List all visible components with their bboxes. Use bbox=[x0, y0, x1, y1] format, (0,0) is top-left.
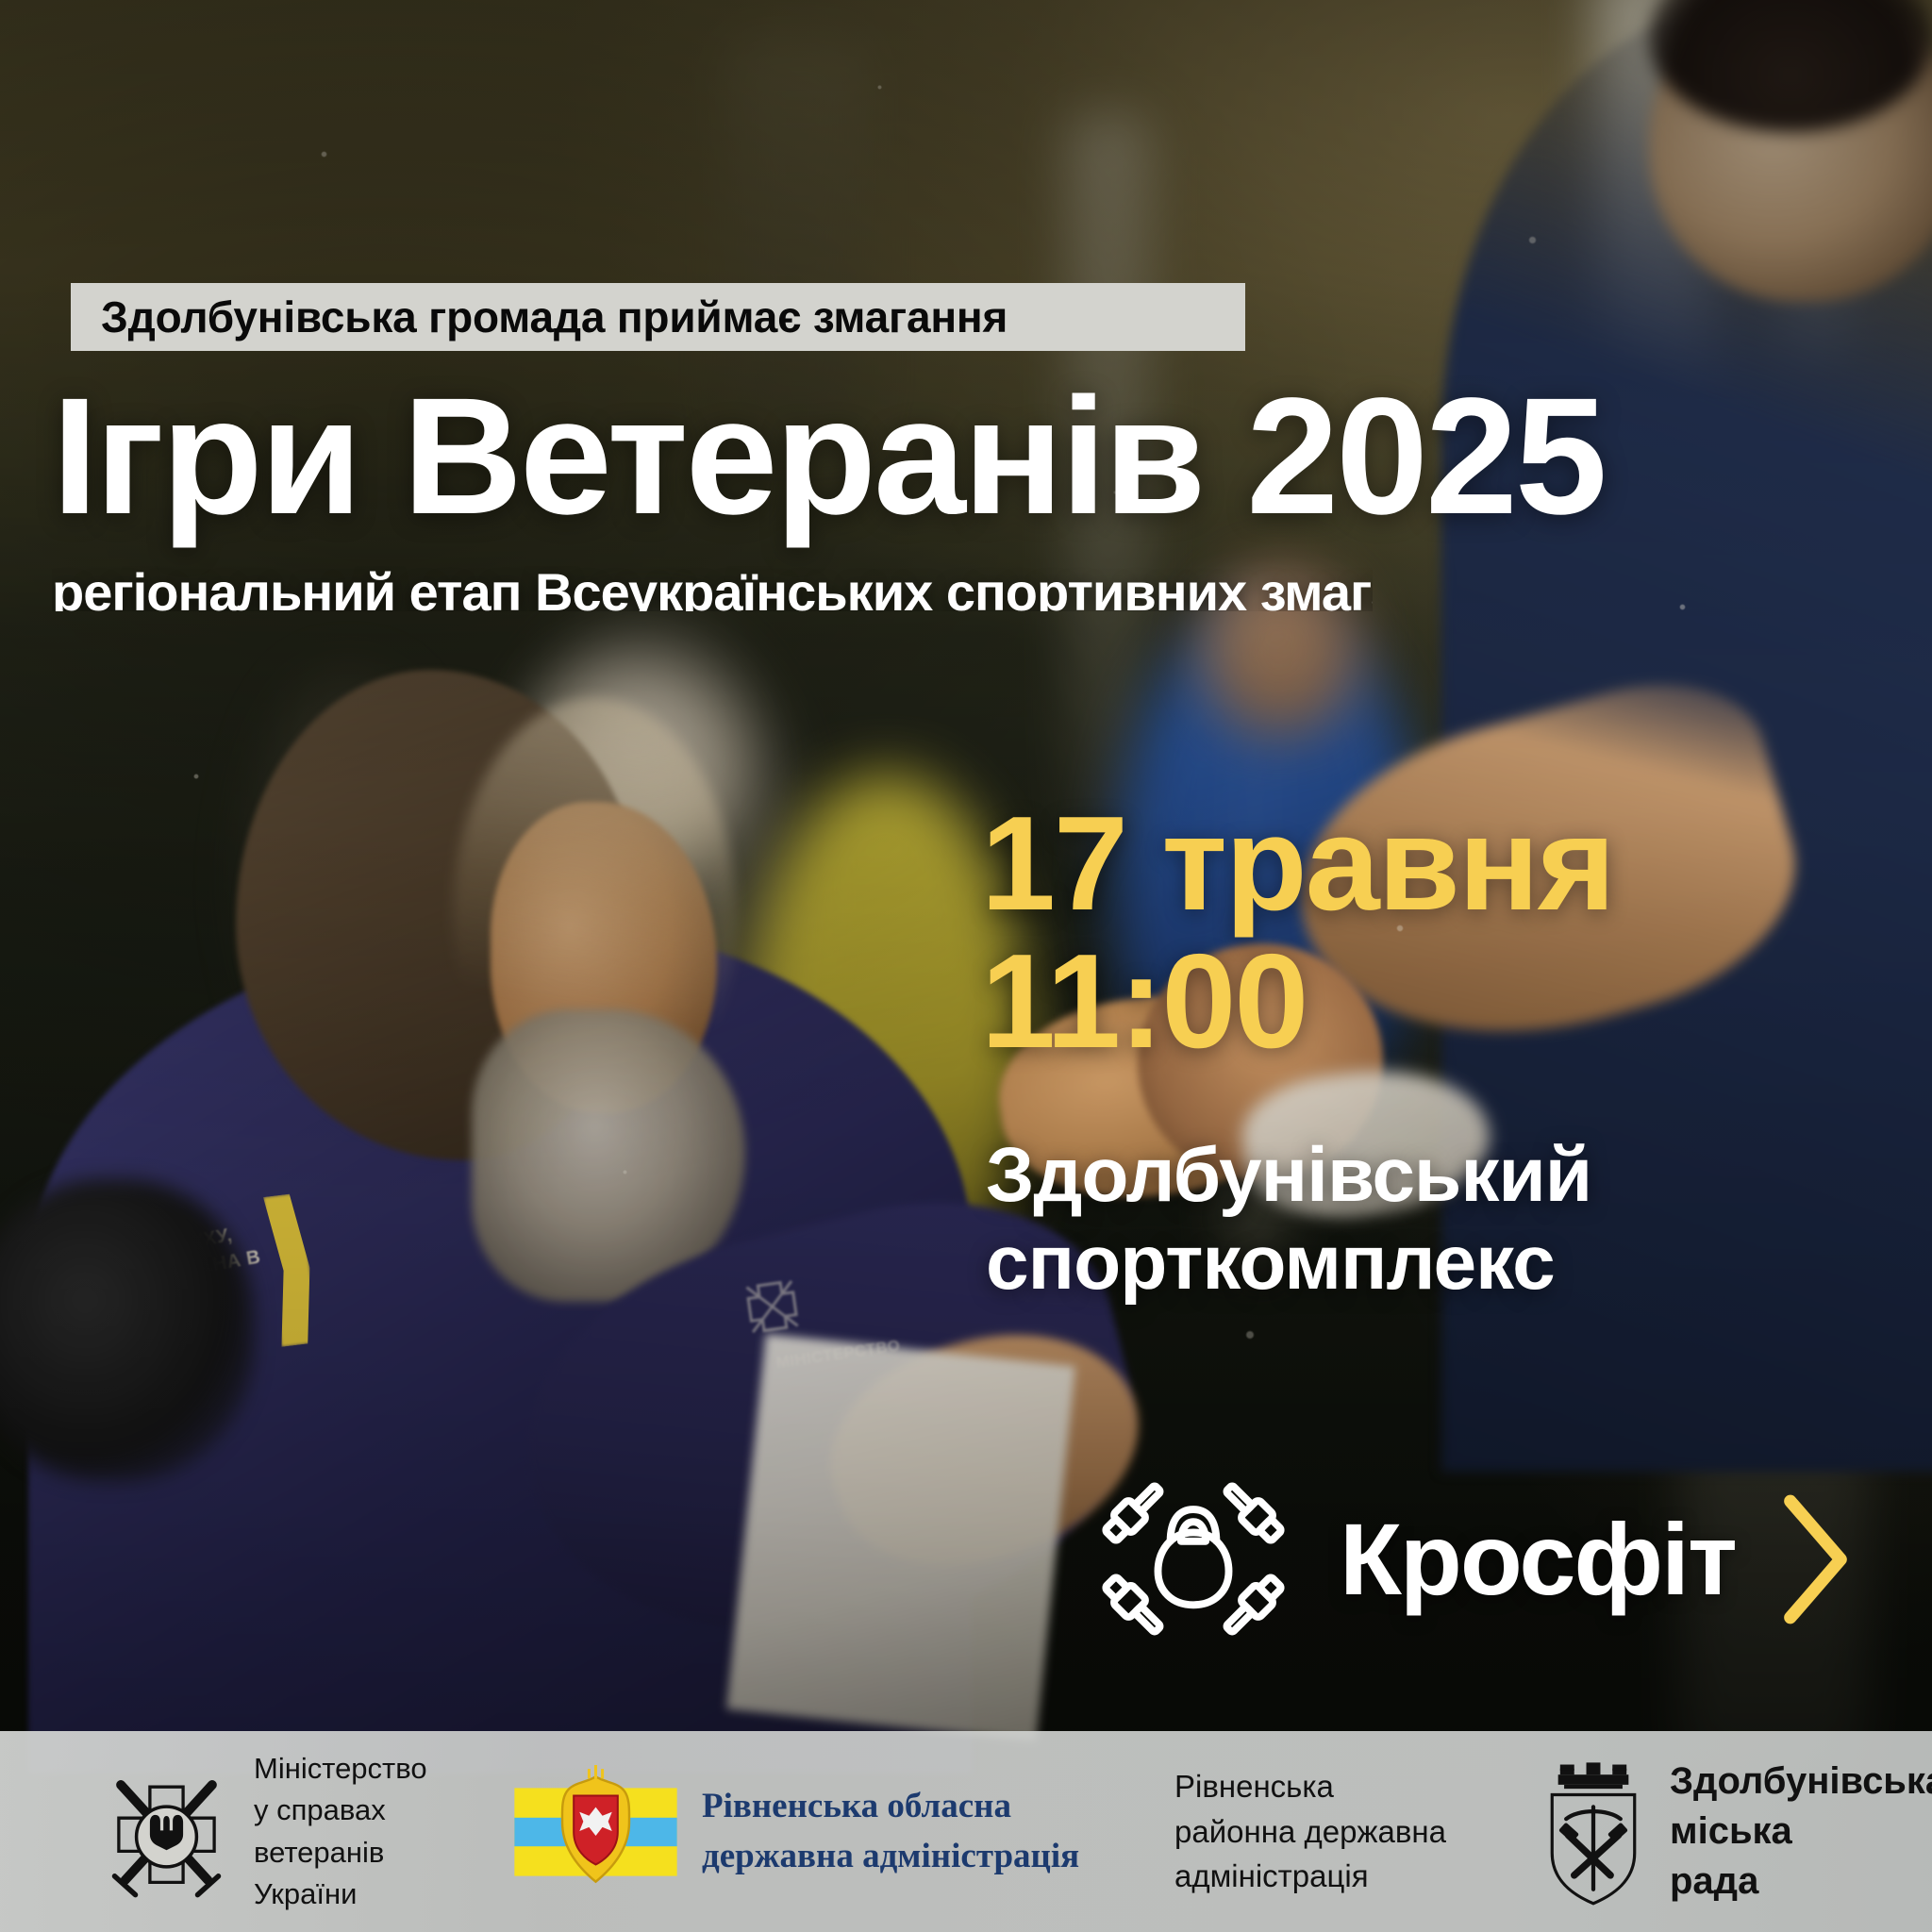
chevron-right-icon bbox=[1766, 1489, 1865, 1630]
partner-ministry-of-veterans-affairs: Міністерство у справах ветеранів України bbox=[104, 1748, 427, 1914]
partner-city-council-label: Здолбунівська міська рада bbox=[1670, 1757, 1932, 1906]
partner-footer: Міністерство у справах ветеранів України bbox=[0, 1731, 1932, 1932]
kicker-text: Здолбунівська громада приймає змагання bbox=[71, 291, 1008, 342]
partner-raion-label: Рівненська районна державна адміністраці… bbox=[1174, 1764, 1446, 1900]
event-datetime: 17 травня 11:00 bbox=[981, 797, 1887, 1074]
page-subtitle: регіональний етап Всеукраїнських спортив… bbox=[52, 566, 1373, 611]
partner-ministry-label: Міністерство у справах ветеранів України bbox=[254, 1748, 427, 1914]
zdolbuniv-coat-of-arms-icon bbox=[1538, 1757, 1649, 1907]
page-title: Ігри Ветеранів 2025 bbox=[52, 373, 1901, 542]
kicker-banner: Здолбунівська громада приймає змагання bbox=[71, 283, 1245, 351]
rivne-oblast-flag-coat-of-arms-icon bbox=[514, 1761, 677, 1903]
partner-rivne-raion-state-administration: Рівненська районна державна адміністраці… bbox=[1174, 1764, 1446, 1900]
poster-root: СИЛА ДУХУ, ЗАГАРТОВАНА В БОЮ МІНІСТЕРСТВ… bbox=[0, 0, 1932, 1932]
veterans-ministry-cross-icon bbox=[104, 1754, 229, 1909]
partner-oblast-label: Рівненська обласна державна адміністраці… bbox=[702, 1782, 1079, 1881]
partner-rivne-oblast-state-administration: Рівненська обласна державна адміністраці… bbox=[514, 1761, 1079, 1903]
event-date: 17 травня bbox=[981, 797, 1887, 931]
partner-zdolbuniv-city-council: Здолбунівська міська рада bbox=[1538, 1757, 1932, 1907]
event-venue: Здолбунівський спорткомплекс bbox=[986, 1132, 1835, 1307]
event-time: 11:00 bbox=[981, 931, 1887, 1074]
sport-label: Кросфіт bbox=[1340, 1508, 1736, 1610]
event-venue-line1: Здолбунівський bbox=[986, 1132, 1835, 1220]
subtitle-clip: регіональний етап Всеукраїнських спортив… bbox=[52, 566, 1373, 611]
sport-discipline: Кросфіт bbox=[1085, 1453, 1865, 1665]
poster-content: Здолбунівська громада приймає змагання І… bbox=[0, 0, 1932, 1932]
event-venue-line2: спорткомплекс bbox=[986, 1220, 1835, 1307]
crossfit-barbell-kettlebell-icon bbox=[1085, 1453, 1302, 1665]
